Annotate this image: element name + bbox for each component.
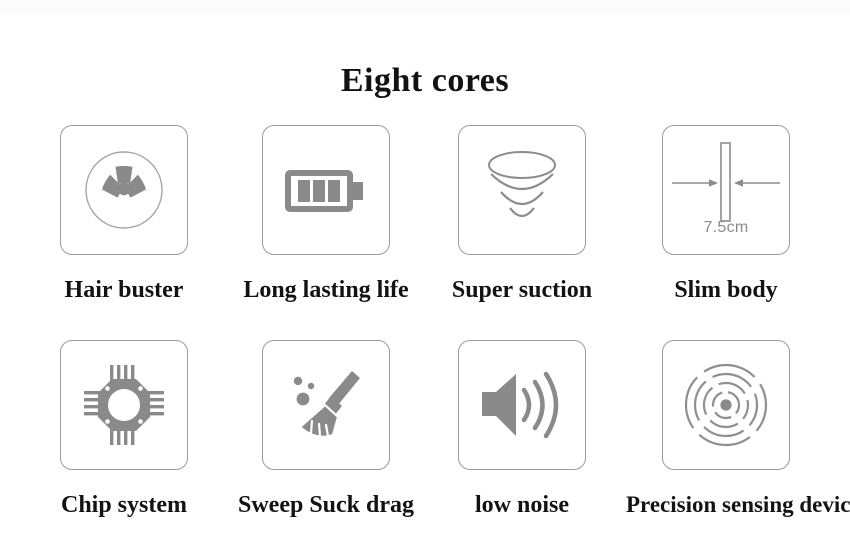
feature-low-noise[interactable]: low noise: [422, 340, 622, 519]
feature-hair-buster[interactable]: Hair buster: [24, 125, 224, 304]
top-band: [0, 0, 850, 14]
feature-icon-box: [262, 125, 390, 255]
feature-label: Sweep Suck drag: [226, 492, 426, 519]
feature-grid: Hair buster Long lasting life: [0, 125, 850, 553]
radar-target-icon: [676, 355, 776, 455]
feature-label: Hair buster: [24, 277, 224, 304]
feature-row-bottom: Chip system: [0, 340, 850, 553]
feature-row-top: Hair buster Long lasting life: [0, 125, 850, 340]
feature-icon-box: [60, 125, 188, 255]
feature-icon-box: [458, 340, 586, 470]
battery-icon: [280, 155, 372, 225]
dimension-label: 7.5cm: [663, 219, 789, 237]
feature-label: low noise: [422, 492, 622, 519]
feature-icon-box: [60, 340, 188, 470]
broom-icon: [276, 355, 376, 455]
feature-label: Chip system: [24, 492, 224, 519]
feature-icon-box: [262, 340, 390, 470]
feature-precision-sensing-device[interactable]: Precision sensing device: [626, 340, 826, 518]
feature-super-suction[interactable]: Super suction: [422, 125, 622, 304]
feature-long-lasting-life[interactable]: Long lasting life: [226, 125, 426, 304]
feature-label: Long lasting life: [226, 277, 426, 304]
feature-chip-system[interactable]: Chip system: [24, 340, 224, 519]
feature-label: Precision sensing device: [626, 492, 826, 518]
page-title: Eight cores: [0, 62, 850, 100]
eight-cores-feature-panel: Eight cores Hair buster: [0, 0, 850, 553]
feature-icon-box: [662, 340, 790, 470]
feature-icon-box: [458, 125, 586, 255]
feature-slim-body[interactable]: 7.5cm Slim body: [626, 125, 826, 304]
speaker-icon: [472, 362, 572, 448]
chip-icon: [74, 355, 174, 455]
vortex-suction-icon: [472, 142, 572, 238]
feature-label: Super suction: [422, 277, 622, 304]
feature-sweep-suck-drag[interactable]: Sweep Suck drag: [226, 340, 426, 519]
fan-icon: [79, 145, 169, 235]
feature-label: Slim body: [626, 277, 826, 304]
feature-icon-box: 7.5cm: [662, 125, 790, 255]
